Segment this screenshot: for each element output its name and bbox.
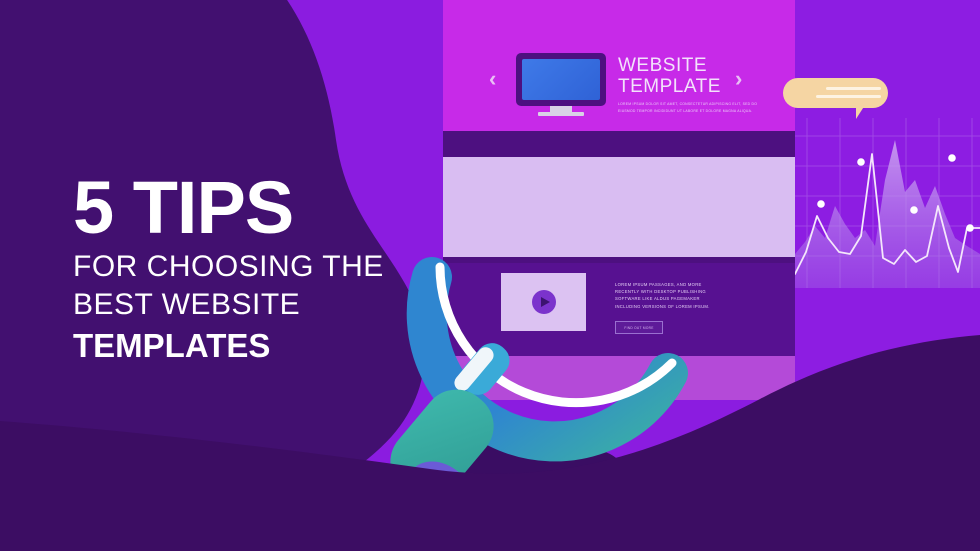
hero-title: WEBSITE TEMPLATE <box>618 55 768 97</box>
chart-area-series <box>795 140 980 288</box>
speech-bubble-line-1 <box>826 87 881 90</box>
headline-line-4: TEMPLATES <box>73 326 403 366</box>
hero-subtext: LOREM IPSUM DOLOR SIT AMET, CONSECTETUR … <box>618 101 763 114</box>
monitor-screen <box>522 59 600 100</box>
chart-point-4 <box>948 154 956 162</box>
hero-title-line2: TEMPLATE <box>618 76 768 97</box>
poster-canvas: ‹ › WEBSITE TEMPLATE LOREM IPSUM DOLOR S… <box>0 0 980 551</box>
chart-point-5 <box>966 224 974 232</box>
monitor-base <box>538 112 584 116</box>
chart-point-1 <box>817 200 825 208</box>
desktop-monitor-icon <box>516 53 606 115</box>
chart-point-3 <box>910 206 918 214</box>
chart-point-2 <box>857 158 865 166</box>
hero-title-line1: WEBSITE <box>618 55 768 76</box>
headline-block: 5 TIPS FOR CHOOSING THE BEST WEBSITE TEM… <box>73 172 403 366</box>
chart-svg <box>795 118 980 288</box>
headline-line-3: BEST WEBSITE <box>73 286 403 324</box>
speech-bubble <box>783 78 888 114</box>
headline-line-1: 5 TIPS <box>73 172 403 244</box>
speech-bubble-tail <box>856 105 865 119</box>
speech-bubble-line-2 <box>816 95 881 98</box>
line-chart <box>795 118 980 288</box>
headline-line-2: FOR CHOOSING THE <box>73 248 403 286</box>
speech-bubble-body <box>783 78 888 108</box>
